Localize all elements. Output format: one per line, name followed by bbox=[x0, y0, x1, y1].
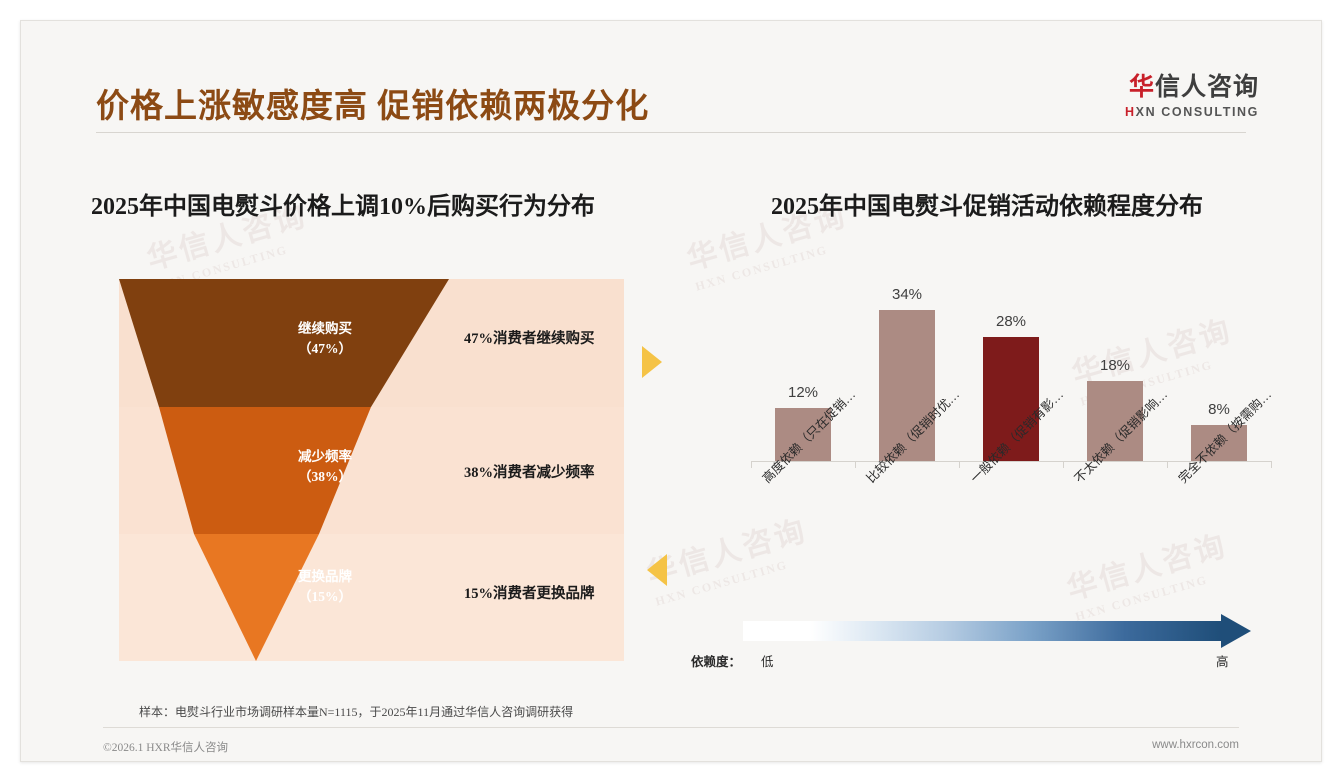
legend-low-label: 低 bbox=[761, 651, 774, 670]
footer-website: www.hxrcon.com bbox=[1152, 739, 1239, 751]
left-panel-title: 2025年中国电熨斗价格上调10%后购买行为分布 bbox=[91, 186, 595, 221]
funnel-chart: 继续购买 （47%） 减少频率 （38%） 更换品牌 （15%） 47%消费者继… bbox=[119, 279, 624, 661]
logo-chinese: 华信人咨询 bbox=[1125, 75, 1259, 100]
right-panel-title: 2025年中国电熨斗促销活动依赖程度分布 bbox=[771, 186, 1203, 221]
axis-tick bbox=[959, 461, 960, 468]
gradient-bar bbox=[743, 621, 1221, 641]
legend-title: 依赖度： bbox=[691, 651, 741, 670]
footer-divider bbox=[103, 727, 1239, 728]
logo-en-rest: XN CONSULTING bbox=[1136, 105, 1259, 119]
axis-tick bbox=[1271, 461, 1272, 468]
funnel-side-label-3: 15%消费者更换品牌 bbox=[464, 582, 595, 603]
bar-value-label: 28% bbox=[996, 313, 1026, 330]
axis-tick bbox=[1167, 461, 1168, 468]
footer-copyright: ©2026.1 HXR华信人咨询 bbox=[103, 739, 228, 755]
bar-value-label: 34% bbox=[892, 286, 922, 303]
funnel-segment-2 bbox=[159, 407, 371, 534]
logo-cn-rest: 信人咨询 bbox=[1155, 74, 1259, 101]
axis-tick bbox=[751, 461, 752, 468]
gradient-arrow-icon bbox=[1221, 614, 1251, 648]
funnel-segment-1 bbox=[119, 279, 449, 407]
logo-en-highlight: H bbox=[1125, 105, 1136, 119]
dependency-gradient-legend: 依赖度： 低 高 bbox=[721, 619, 1281, 677]
triangle-right-icon bbox=[642, 346, 662, 378]
funnel-side-label-2: 38%消费者减少频率 bbox=[464, 461, 595, 482]
bar-value-label: 12% bbox=[788, 384, 818, 401]
header-divider bbox=[96, 132, 1246, 133]
source-note: 样本：电熨斗行业市场调研样本量N=1115，于2025年11月通过华信人咨询调研… bbox=[139, 703, 573, 720]
logo-cn-highlight: 华 bbox=[1129, 74, 1155, 101]
legend-high-label: 高 bbox=[1216, 651, 1229, 670]
dependency-bar-chart: 12% 34% 28% 18% 8% bbox=[721, 283, 1281, 613]
funnel-side-label-1: 47%消费者继续购买 bbox=[464, 327, 595, 348]
slide: 华信人咨询 HXN CONSULTING 华信人咨询 HXN CONSULTIN… bbox=[20, 20, 1322, 762]
slide-header: 价格上涨敏感度高 促销依赖两极分化 华信人咨询 HXN CONSULTING bbox=[21, 21, 1321, 133]
axis-tick bbox=[1063, 461, 1064, 468]
brand-logo: 华信人咨询 HXN CONSULTING bbox=[1125, 75, 1259, 119]
page-title: 价格上涨敏感度高 促销依赖两极分化 bbox=[96, 79, 649, 127]
logo-english: HXN CONSULTING bbox=[1125, 105, 1259, 119]
triangle-left-icon bbox=[647, 554, 667, 586]
axis-tick bbox=[855, 461, 856, 468]
funnel-segment-3 bbox=[194, 534, 319, 661]
bar-value-label: 8% bbox=[1208, 401, 1230, 418]
bar-value-label: 18% bbox=[1100, 357, 1130, 374]
